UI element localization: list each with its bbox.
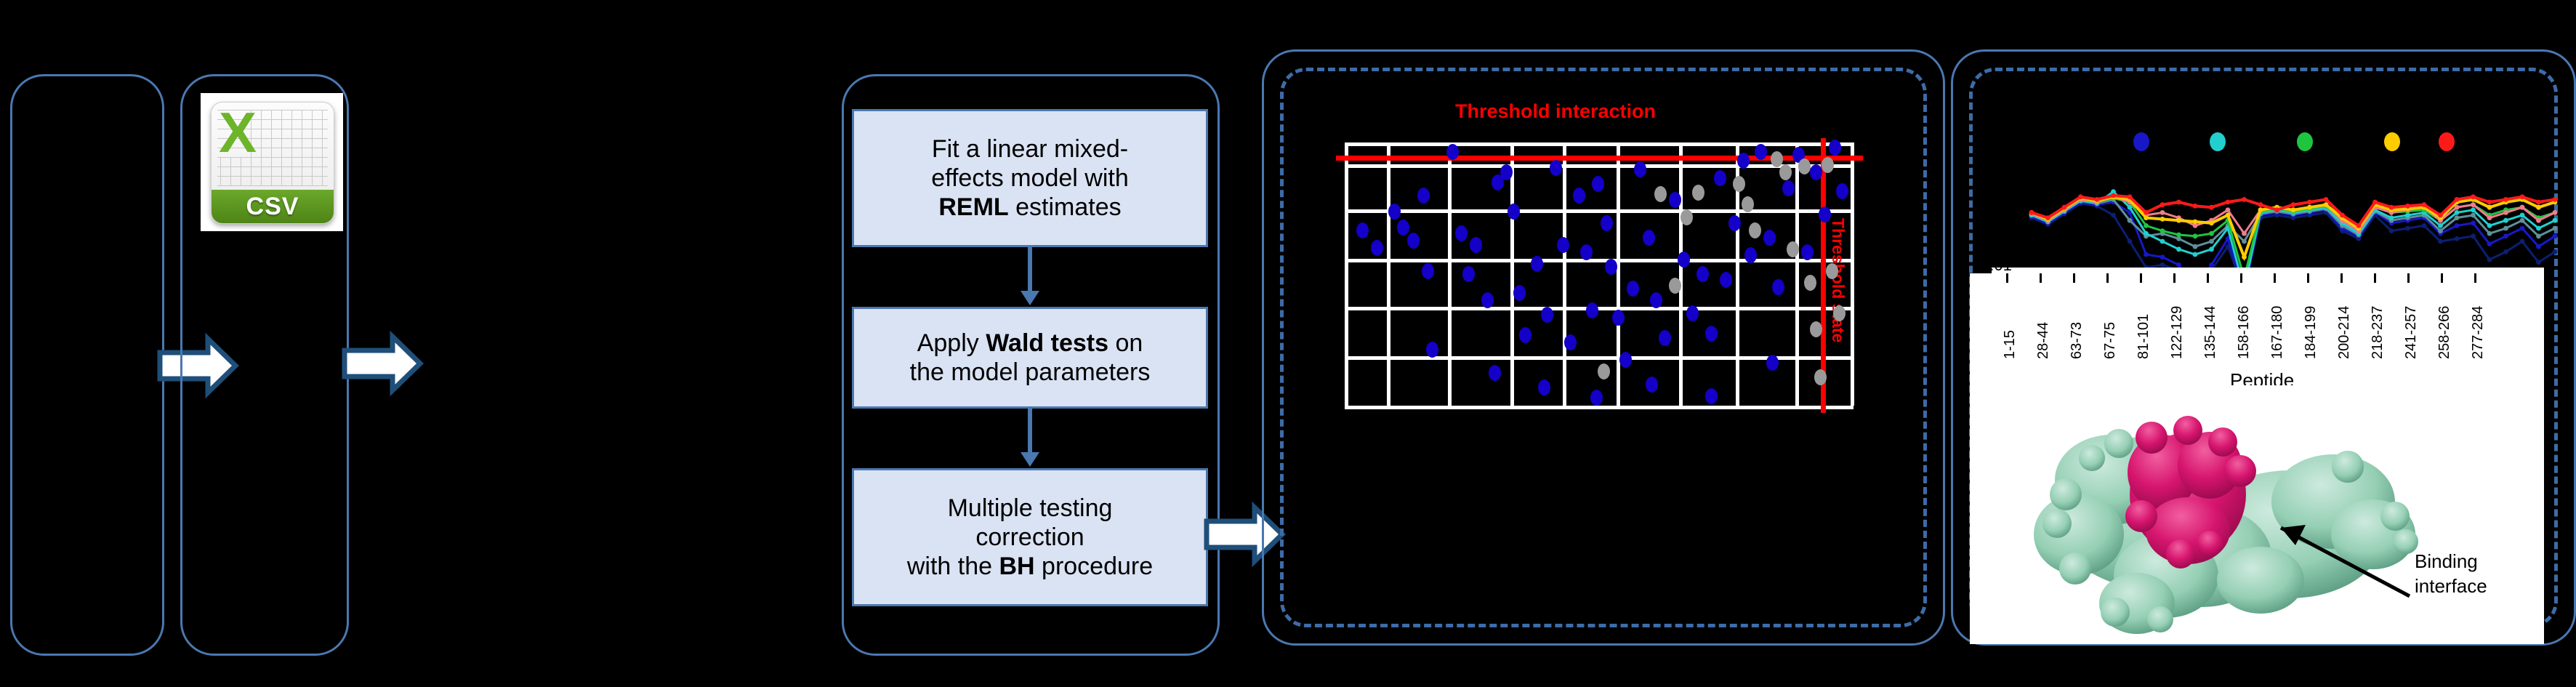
peptide-tick-label: 63-73: [2069, 322, 2085, 359]
peptide-axis-tick: [2307, 273, 2309, 283]
step-model-box[interactable]: Fit a linear mixed-effects model withREM…: [852, 109, 1208, 247]
data-point: [1397, 220, 1409, 236]
data-point: [1564, 334, 1577, 350]
legend-dot-blue: [2133, 132, 2149, 151]
data-point: [1669, 192, 1681, 208]
threshold-interaction-label: Threshold interaction: [1455, 100, 1656, 123]
data-point: [1573, 188, 1585, 204]
binding-interface-label-line2: interface: [2415, 576, 2487, 598]
grid-h: [1345, 406, 1853, 409]
data-point-ns: [1669, 278, 1681, 294]
data-point-ns: [1779, 164, 1792, 180]
data-point-ns: [1822, 157, 1834, 173]
peptide-axis-tick: [2106, 273, 2109, 283]
peptide-axis-area: [1992, 268, 2544, 273]
data-point: [1634, 161, 1646, 177]
data-point: [1417, 188, 1430, 204]
data-point-ns: [1733, 176, 1745, 192]
peptide-tick-label: 1-15: [2002, 330, 2018, 359]
data-point: [1810, 164, 1822, 180]
data-point-ns: [1826, 263, 1838, 279]
peptide-tick-label: 184-199: [2303, 306, 2319, 359]
binding-interface-label-line1: Binding: [2415, 551, 2478, 573]
data-point: [1426, 342, 1438, 358]
data-point-ns: [1771, 151, 1783, 167]
data-point: [1819, 206, 1831, 222]
step-wald-text: Apply Wald tests onthe model parameters: [910, 329, 1151, 387]
data-point: [1422, 263, 1434, 279]
data-point: [1388, 204, 1401, 220]
csv-format-band: CSV: [212, 190, 334, 223]
data-point-ns: [1749, 222, 1761, 238]
grid-v: [1617, 142, 1620, 406]
data-point: [1470, 237, 1482, 253]
data-point: [1531, 256, 1543, 272]
data-point: [1643, 230, 1655, 246]
data-point: [1720, 272, 1732, 288]
step-model-text: Fit a linear mixed-effects model withREM…: [931, 134, 1129, 222]
data-point-ns: [1654, 186, 1667, 202]
step-bh-text: Multiple testingcorrectionwith the BH pr…: [907, 494, 1153, 581]
threshold-state-label: Threshold state: [1828, 218, 1848, 342]
grid-h: [1345, 209, 1853, 213]
connector-wald-to-bh: [1012, 409, 1048, 468]
data-point: [1829, 140, 1841, 156]
peptide-axis-tick: [2274, 273, 2276, 283]
data-point: [1737, 153, 1750, 169]
data-point: [1446, 144, 1459, 160]
legend-dot-green: [2297, 132, 2313, 151]
data-point: [1541, 307, 1553, 323]
data-point: [1714, 170, 1726, 186]
threshold-interaction-line: [1336, 156, 1863, 161]
data-point: [1601, 215, 1613, 231]
data-point: [1772, 279, 1784, 295]
data-point: [1728, 215, 1741, 231]
connector-model-to-wald: [1012, 247, 1048, 307]
peptide-axis-tick: [2474, 273, 2476, 283]
grid-dashed: [1606, 307, 1853, 310]
peptide-tick-labels: 1-1528-4463-7367-7581-101122-129135-1441…: [1970, 273, 2544, 368]
grid-v: [1387, 142, 1390, 406]
peptide-axis-tick: [2441, 273, 2443, 283]
grid-h: [1345, 142, 1853, 146]
data-point: [1686, 305, 1699, 321]
data-point-ns: [1787, 241, 1799, 257]
csv-file-card: X CSV: [201, 93, 343, 231]
data-point: [1627, 281, 1639, 297]
peptide-axis-tick: [2140, 273, 2142, 283]
data-point: [1766, 355, 1779, 371]
grid-v: [1679, 142, 1683, 406]
data-point: [1586, 302, 1598, 318]
data-point-ns: [1681, 209, 1693, 225]
peptide-tick-label: 200-214: [2336, 306, 2353, 359]
input-panel: [10, 74, 164, 656]
data-point: [1538, 379, 1550, 395]
data-point: [1612, 310, 1625, 326]
step-wald-box[interactable]: Apply Wald tests onthe model parameters: [852, 307, 1208, 409]
data-point: [1696, 266, 1709, 282]
data-point: [1455, 225, 1468, 241]
peptide-tick-label: 28-44: [2035, 322, 2052, 359]
peptide-tick-label: 218-237: [2370, 306, 2386, 359]
peptide-axis-tick: [2407, 273, 2410, 283]
data-point-ns: [1598, 363, 1610, 379]
data-point-ns: [1833, 305, 1846, 321]
peptide-tick-label: 158-166: [2236, 306, 2253, 359]
data-point-ns: [1798, 158, 1811, 174]
data-point: [1356, 222, 1369, 238]
data-point: [1744, 247, 1757, 263]
grid-v: [1563, 142, 1566, 406]
peptide-axis-tick: [2040, 273, 2042, 283]
peptide-tick-label: 81-101: [2136, 314, 2152, 359]
peptide-axis-tick: [2207, 273, 2209, 283]
grid-v: [1795, 142, 1799, 406]
data-point: [1755, 144, 1767, 160]
data-point: [1550, 160, 1562, 176]
data-point: [1605, 259, 1617, 275]
data-point-ns: [1804, 275, 1816, 291]
peptide-tick-label: 258-266: [2436, 306, 2453, 359]
data-point: [1592, 176, 1604, 192]
peptide-tick-label: 122-129: [2169, 306, 2186, 359]
data-point-ns: [1810, 321, 1822, 337]
peptide-axis-tick: [2240, 273, 2242, 283]
data-point: [1801, 244, 1814, 260]
data-point: [1650, 292, 1662, 308]
peptide-tick-label: 67-75: [2102, 322, 2119, 359]
peptide-tick-label: 277-284: [2470, 306, 2487, 359]
peptide-tick-label: 135-144: [2202, 306, 2219, 359]
arrow-csv-to-stats: [342, 331, 423, 396]
peptide-axis-tick: [2173, 273, 2175, 283]
data-point: [1462, 266, 1475, 282]
grid-v: [1510, 142, 1514, 406]
peptide-tick-label: 241-257: [2403, 306, 2420, 359]
data-point: [1513, 285, 1526, 301]
data-point-ns: [1814, 369, 1827, 385]
peptide-ytick-label: 0.01: [1981, 256, 2012, 275]
peptide-axis-tick: [2374, 273, 2376, 283]
peptide-tick-label: 167-180: [2269, 306, 2286, 359]
legend-dot-red: [2439, 132, 2455, 151]
data-point: [1705, 388, 1718, 404]
data-point: [1371, 240, 1383, 256]
data-point-ns: [1692, 185, 1704, 201]
peptide-axis-tick: [2340, 273, 2343, 283]
step-bh-box[interactable]: Multiple testingcorrectionwith the BH pr…: [852, 468, 1208, 606]
grid-v: [1851, 142, 1854, 406]
data-point: [1836, 183, 1848, 199]
data-point: [1705, 326, 1718, 342]
data-point: [1557, 237, 1569, 253]
data-point: [1782, 180, 1795, 196]
data-point: [1489, 365, 1501, 381]
peptide-axis-tick: [2073, 273, 2075, 283]
data-point: [1580, 244, 1593, 260]
excel-x-glyph: X: [219, 104, 257, 161]
legend-dot-yellow: [2384, 132, 2400, 151]
csv-file-icon: X CSV: [211, 102, 334, 224]
grid-v: [1345, 142, 1348, 406]
data-point-ns: [1742, 196, 1754, 212]
protein-surface-svg: [1970, 385, 2544, 644]
data-point: [1646, 377, 1658, 393]
data-point: [1481, 292, 1494, 308]
data-point: [1763, 230, 1776, 246]
legend-dot-cyan: [2210, 132, 2226, 151]
data-point: [1619, 352, 1632, 368]
data-point: [1508, 204, 1520, 220]
data-point: [1678, 252, 1690, 268]
grid-h: [1345, 259, 1853, 262]
volcano-plot: Threshold interaction Threshold state: [1301, 95, 1904, 502]
data-point: [1407, 233, 1420, 249]
grid-v: [1448, 142, 1452, 406]
data-point: [1500, 164, 1513, 180]
protein-structure-image: Binding interface: [1970, 385, 2544, 644]
data-point: [1519, 327, 1531, 343]
data-point: [1659, 330, 1671, 346]
data-point: [1590, 390, 1603, 406]
csv-format-label: CSV: [246, 193, 299, 221]
